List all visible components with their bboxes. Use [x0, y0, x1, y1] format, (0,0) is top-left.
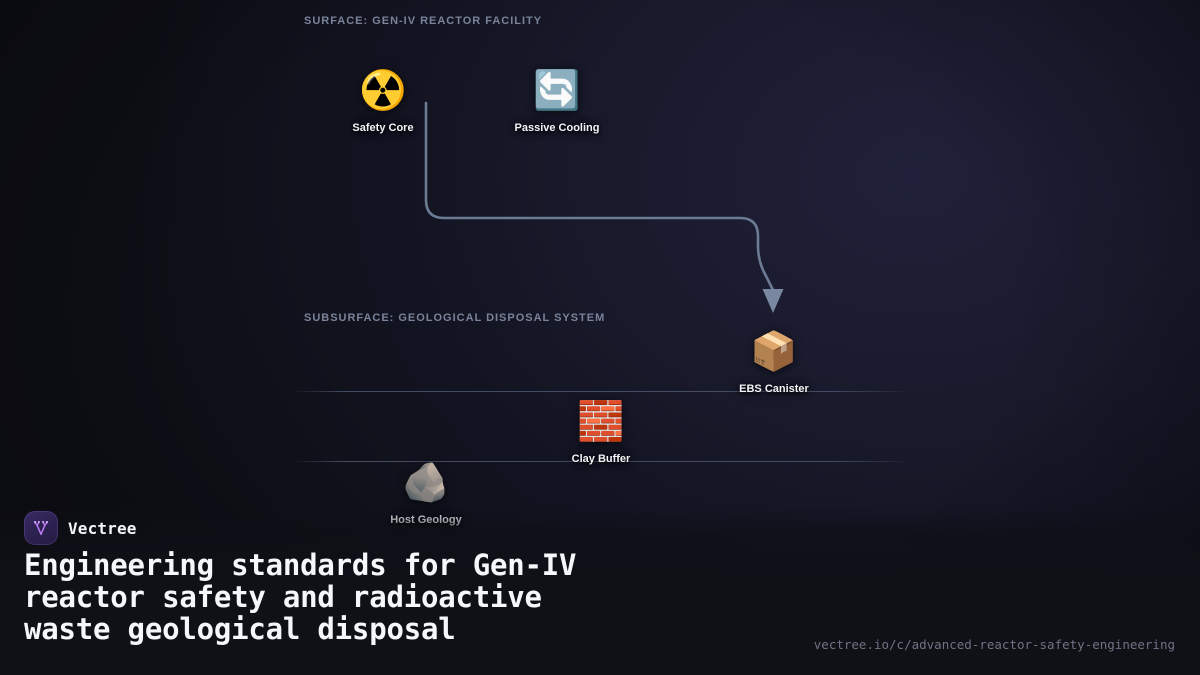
node-label-passive-cooling: Passive Cooling	[515, 122, 600, 134]
radioactive-icon: ☢️	[360, 67, 406, 113]
brick-wall-icon: 🧱	[578, 398, 624, 444]
source-url: vectree.io/c/advanced-reactor-safety-eng…	[814, 637, 1175, 652]
section-header-surface: SURFACE: GEN-IV REACTOR FACILITY	[304, 15, 542, 27]
diagram-canvas: SURFACE: GEN-IV REACTOR FACILITY SUBSURF…	[0, 0, 1200, 675]
node-passive-cooling[interactable]: 🔄 Passive Cooling	[492, 67, 622, 134]
node-label-clay-buffer: Clay Buffer	[572, 453, 631, 465]
rock-icon: 🪨	[403, 459, 449, 505]
package-box-icon: 📦	[751, 328, 797, 374]
node-clay-buffer[interactable]: 🧱 Clay Buffer	[536, 398, 666, 465]
vectree-v-logo	[24, 511, 58, 545]
section-header-subsurface: SUBSURFACE: GEOLOGICAL DISPOSAL SYSTEM	[304, 312, 605, 324]
node-label-safety-core: Safety Core	[352, 122, 413, 134]
node-safety-core[interactable]: ☢️ Safety Core	[318, 67, 448, 134]
vectree-v-glyph	[30, 517, 52, 539]
brand: Vectree	[24, 511, 137, 545]
recycle-arrows-icon: 🔄	[534, 67, 580, 113]
page-title: Engineering standards for Gen-IV reactor…	[24, 549, 576, 645]
node-label-ebs-canister: EBS Canister	[739, 383, 809, 395]
node-ebs-canister[interactable]: 📦 EBS Canister	[709, 328, 839, 395]
brand-name: Vectree	[68, 519, 137, 538]
